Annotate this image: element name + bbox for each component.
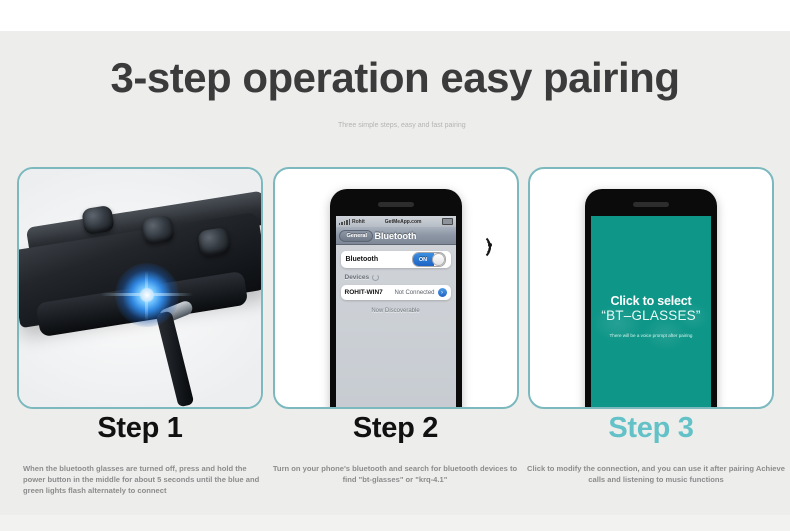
page-title: 3-step operation easy pairing (0, 55, 790, 101)
header: 3-step operation easy pairing Three simp… (0, 55, 790, 101)
phone-speaker-grille (378, 202, 414, 207)
bluetooth-label: Bluetooth (346, 256, 379, 263)
bluetooth-toggle-row[interactable]: Bluetooth ON (341, 251, 451, 268)
step-caption-row: When the bluetooth glasses are turned of… (5, 463, 785, 496)
phone-screen-pairing-prompt: Click to select “BT–GLASSES” There will … (591, 216, 711, 409)
glasses-temple-arm (156, 310, 195, 407)
loading-spinner-icon (372, 274, 379, 281)
step-caption-2: Turn on your phone's bluetooth and searc… (266, 463, 524, 496)
step-card-row: Rohit GetMeApp.com General Bluetooth Blu… (17, 167, 774, 409)
pairing-prompt-screen: Click to select “BT–GLASSES” There will … (591, 216, 711, 409)
phone-screen-bluetooth-settings: Rohit GetMeApp.com General Bluetooth Blu… (336, 216, 456, 409)
toggle-knob (432, 253, 445, 266)
step-caption-1: When the bluetooth glasses are turned of… (5, 463, 263, 496)
host-label: GetMeApp.com (367, 219, 440, 225)
step-label-2: Step 2 (273, 412, 519, 445)
bluetooth-signal-waves-icon (475, 225, 505, 265)
ios-status-bar: Rohit GetMeApp.com (336, 216, 456, 227)
promo-page: 3-step operation easy pairing Three simp… (0, 0, 790, 531)
phone-speaker-grille (633, 202, 669, 207)
page-subtitle: Three simple steps, easy and fast pairin… (338, 121, 498, 132)
device-list-item[interactable]: ROHIT-WIN7 Not Connected › (341, 285, 451, 300)
device-name: ROHIT-WIN7 (345, 289, 383, 296)
devices-section-header: Devices (345, 274, 451, 281)
devices-label: Devices (345, 274, 370, 281)
back-button[interactable]: General (339, 230, 373, 242)
bluetooth-glasses-photo (19, 169, 261, 407)
step-card-3[interactable]: Click to select “BT–GLASSES” There will … (528, 167, 774, 409)
pairing-voice-note: There will be a voice prompt after pairi… (610, 333, 693, 339)
step-label-3: Step 3 (528, 412, 774, 445)
top-white-band (0, 0, 790, 31)
carrier-label: Rohit (352, 219, 365, 225)
phone-device-step2: Rohit GetMeApp.com General Bluetooth Blu… (330, 189, 462, 409)
bluetooth-toggle-switch[interactable]: ON (412, 252, 446, 267)
signal-source-dot (488, 243, 492, 247)
battery-icon (442, 218, 453, 225)
ios-nav-bar: General Bluetooth (336, 227, 456, 245)
ios-settings-body: Bluetooth ON Devices ROHIT-WIN7 (336, 245, 456, 409)
discoverable-note: Now Discoverable (341, 308, 451, 314)
phone-device-step3: Click to select “BT–GLASSES” There will … (585, 189, 717, 409)
led-core (140, 288, 154, 302)
pairing-headline: Click to select (610, 295, 691, 308)
step-card-1[interactable] (17, 167, 263, 409)
step-label-row: Step 1 Step 2 Step 3 (17, 412, 774, 445)
step-card-2[interactable]: Rohit GetMeApp.com General Bluetooth Blu… (273, 167, 519, 409)
toggle-on-label: ON (413, 253, 434, 266)
bottom-band (0, 515, 790, 531)
step-caption-3: Click to modify the connection, and you … (527, 463, 785, 496)
step-label-1: Step 1 (17, 412, 263, 445)
device-status: Not Connected (394, 290, 434, 296)
device-info-chevron-icon[interactable]: › (438, 288, 447, 297)
pairing-device-name: “BT–GLASSES” (601, 309, 700, 324)
signal-bars-icon (339, 219, 351, 225)
